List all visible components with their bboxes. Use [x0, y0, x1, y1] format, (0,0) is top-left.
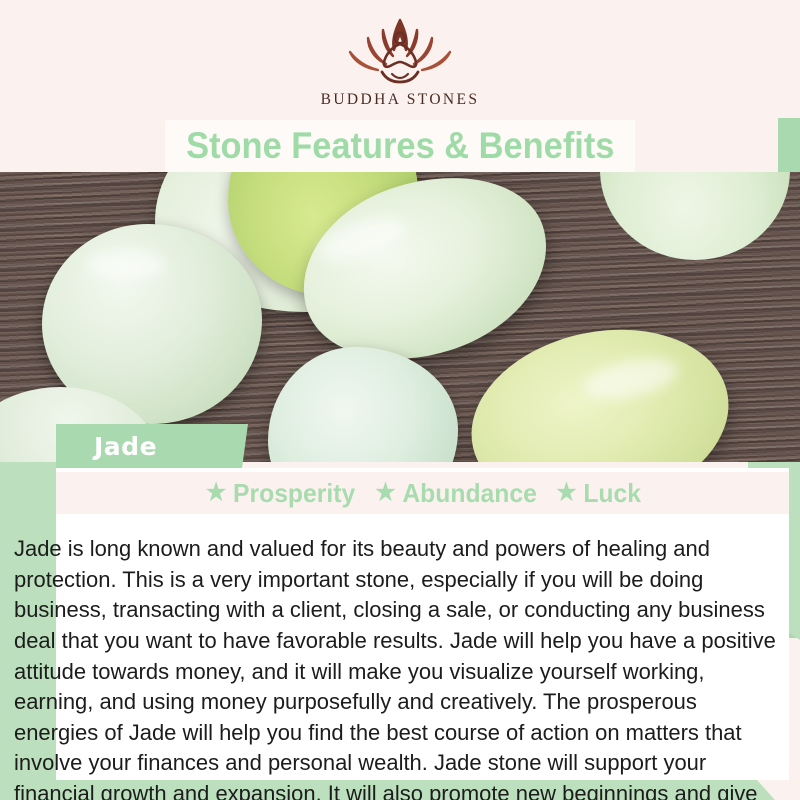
keyword-prosperity: ★ Prosperity [206, 478, 355, 509]
keyword-abundance: ★ Abundance [376, 478, 538, 509]
stone-name-label: Jade [94, 432, 157, 461]
stone-description: Jade is long known and valued for its be… [14, 534, 784, 800]
brand-name: BUDDHA STONES [321, 91, 480, 109]
star-icon: ★ [556, 481, 576, 505]
stone-name-badge: Jade [56, 424, 248, 468]
page-title: Stone Features & Benefits [186, 125, 614, 167]
title-banner: Stone Features & Benefits [165, 120, 635, 172]
keyword-label: Luck [583, 478, 641, 509]
star-icon: ★ [376, 481, 396, 505]
lotus-meditation-icon [334, 16, 466, 88]
benefit-keywords: ★ Prosperity ★ Abundance ★ Luck [56, 472, 789, 514]
keyword-luck: ★ Luck [556, 478, 641, 509]
stone-photo [0, 172, 800, 462]
brand-logo: BUDDHA STONES [0, 16, 800, 116]
keyword-label: Abundance [403, 478, 537, 509]
keyword-label: Prosperity [233, 478, 355, 509]
infographic-card: BUDDHA STONES Stone Features & Benefits … [0, 0, 800, 800]
star-icon: ★ [206, 481, 226, 505]
